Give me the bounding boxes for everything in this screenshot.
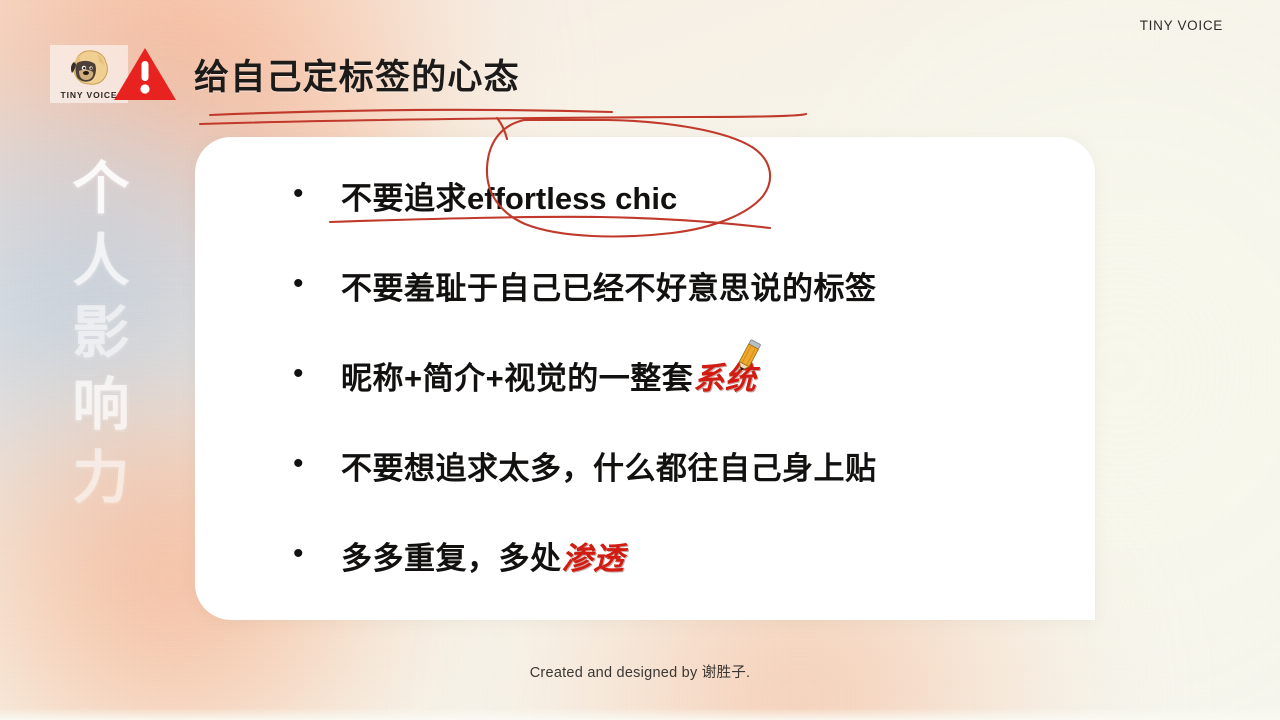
bullet-list: • 不要追求effortless chic • 不要羞耻于自己已经不好意思说的标… [293,173,1071,623]
bullet-text: 多多重复，多处渗透 [341,533,625,578]
page-title: 给自己定标签的心态 [194,49,520,100]
bullet-item-5: • 多多重复，多处渗透 [293,533,1071,623]
content-card: • 不要追求effortless chic • 不要羞耻于自己已经不好意思说的标… [195,137,1095,620]
bullet-item-1: • 不要追求effortless chic [293,173,1071,263]
bullet-segment-emphasis: 渗透 [562,541,625,576]
bullet-item-4: • 不要想追求太多，什么都往自己身上贴 [293,443,1071,533]
bullet-marker-icon: • [293,179,341,209]
bullet-segment: 不要追求 [341,181,467,216]
bullet-segment: 昵称+简介+视觉的一整套 [341,361,693,396]
bullet-text: 昵称+简介+视觉的一整套系统 [341,353,756,398]
slide-root: 个 人 影 响 力 TINY VOICE [0,0,1280,720]
bullet-item-3: • 昵称+简介+视觉的一整套系统 [293,353,1071,443]
brand-label-top-right: TINY VOICE [1140,18,1223,33]
bullet-item-2: • 不要羞耻于自己已经不好意思说的标签 [293,263,1071,353]
bullet-marker-icon: • [293,449,341,479]
bullet-text: 不要追求effortless chic [341,173,677,218]
bullet-segment-latin: effortless chic [467,181,677,216]
bullet-segment: 不要想追求太多，什么都往自己身上贴 [341,451,877,486]
tiny-voice-logo-text: TINY VOICE [60,90,117,100]
bullet-segment-emphasis: 系统 [693,361,756,396]
bullet-segment: 多多重复，多处 [341,541,562,576]
bullet-marker-icon: • [293,269,341,299]
bullet-segment: 不要羞耻于自己已经不好意思说的标签 [341,271,877,306]
bullet-text: 不要羞耻于自己已经不好意思说的标签 [341,263,877,308]
warning-triangle-icon [112,45,178,103]
footer-credit: Created and designed by 谢胜子. [0,661,1280,682]
bullet-marker-icon: • [293,359,341,389]
dog-head-icon [64,49,114,89]
slide-header: TINY VOICE 给自己定标签的心态 [50,40,520,108]
bullet-text: 不要想追求太多，什么都往自己身上贴 [341,443,877,488]
bottom-edge-strip [0,708,1280,720]
bullet-marker-icon: • [293,539,341,569]
